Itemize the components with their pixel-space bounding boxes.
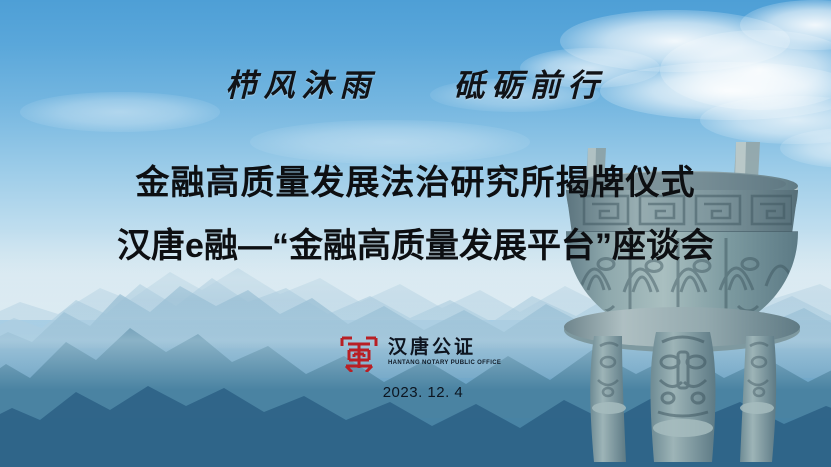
logo-text-group: 汉唐公证 HANTANG NOTARY PUBLIC OFFICE bbox=[388, 338, 501, 366]
logo-name-en: HANTANG NOTARY PUBLIC OFFICE bbox=[388, 360, 501, 366]
calligraphy-headline: 栉风沐雨 砥砺前行 bbox=[0, 60, 831, 105]
event-date: 2023. 12. 4 bbox=[338, 384, 508, 401]
logo-name-cn: 汉唐公证 bbox=[388, 338, 501, 357]
hantang-seal-icon bbox=[338, 332, 380, 372]
event-banner: 栉风沐雨 砥砺前行 金融高质量发展法治研究所揭牌仪式 汉唐e融—“金融高质量发展… bbox=[0, 0, 831, 467]
mountain-layer-foreground bbox=[0, 368, 831, 467]
page-subtitle: 汉唐e融—“金融高质量发展平台”座谈会 bbox=[0, 218, 831, 267]
organization-logo: 汉唐公证 HANTANG NOTARY PUBLIC OFFICE bbox=[338, 332, 508, 372]
page-title: 金融高质量发展法治研究所揭牌仪式 bbox=[0, 155, 831, 204]
